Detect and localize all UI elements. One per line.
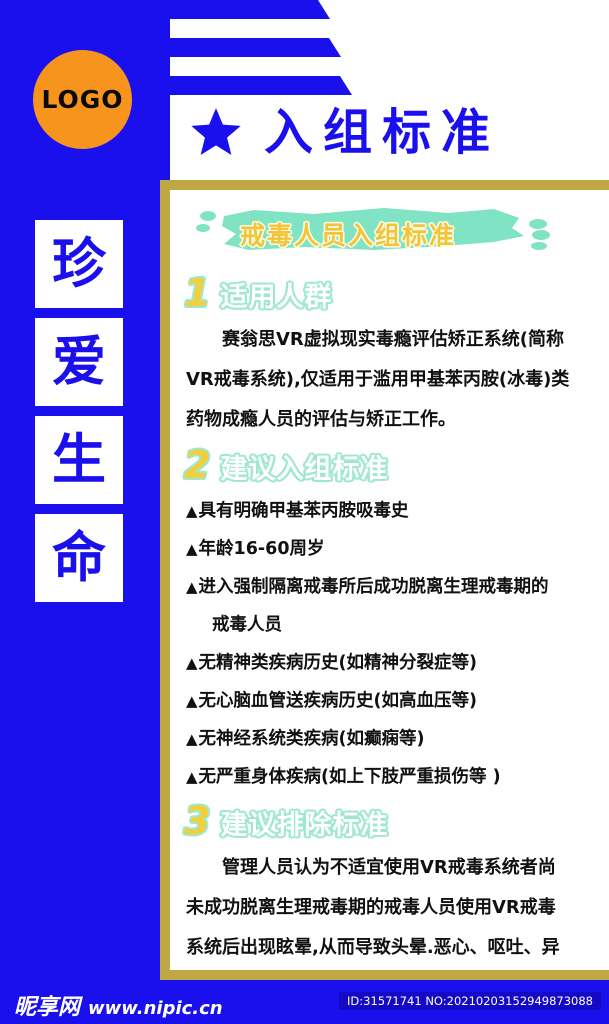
triangle-bullet-icon: ▲: [186, 540, 198, 558]
gold-frame-bottom: [160, 970, 609, 980]
footer-bar: 昵享网 www.nipic.cn ID:31571741 NO:20210203…: [0, 980, 609, 1024]
section-number: 2: [184, 446, 210, 484]
paragraph-line: 管理人员认为不适宜使用VR戒毒系统者尚: [186, 848, 609, 888]
section-number: 3: [184, 802, 210, 840]
watermark-url: www.nipic.cn: [88, 998, 223, 1019]
poster-canvas: LOGO 珍 爱 生 命 入组标准: [0, 0, 609, 1024]
banner-title: 戒毒人员入组标准: [240, 216, 456, 252]
paragraph-line: 未成功脱离生理戒毒期的戒毒人员使用VR戒毒: [186, 888, 609, 928]
section-title: 建议排除标准: [220, 812, 388, 839]
triangle-bullet-icon: ▲: [186, 768, 198, 786]
triangle-bullet-icon: ▲: [186, 502, 198, 520]
page-title: 入组标准: [190, 106, 500, 158]
slogan-char: 命: [52, 531, 106, 585]
paragraph-line: VR戒毒系统),仅适用于滥用甲基苯丙胺(冰毒)类: [186, 360, 609, 400]
section-title: 建议入组标准: [220, 456, 388, 483]
slogan-box: 珍: [35, 220, 123, 308]
section-number: 1: [184, 274, 210, 312]
bullet-item: ▲无严重身体疾病(如上下肢严重损伤等 ): [186, 758, 609, 796]
triangle-bullet-icon: ▲: [186, 730, 198, 748]
paragraph-line: 赛翁思VR虚拟现实毒瘾评估矫正系统(简称: [186, 320, 609, 360]
bullet-text: 无神经系统类疾病(如癫痫等): [199, 729, 425, 749]
slogan-char: 珍: [52, 237, 106, 291]
section-heading-1: 1 适用人群: [184, 274, 609, 312]
slogan-column: 珍 爱 生 命: [35, 220, 123, 612]
section-banner: 戒毒人员入组标准: [180, 202, 609, 268]
bullet-text: 无心脑血管送疾病历史(如高血压等): [199, 691, 478, 711]
bullet-item-continuation: 戒毒人员: [186, 606, 609, 644]
watermark-brand-zh: 昵享网: [14, 989, 80, 1021]
bullet-text: 无精神类疾病历史(如精神分裂症等): [199, 653, 478, 673]
bullet-text: 年龄16-60周岁: [199, 539, 325, 559]
bullet-list: ▲具有明确甲基苯丙胺吸毒史 ▲年龄16-60周岁 ▲进入强制隔离戒毒所后成功脱离…: [186, 492, 609, 796]
triangle-bullet-icon: ▲: [186, 654, 198, 672]
bullet-item: ▲无心脑血管送疾病历史(如高血压等): [186, 682, 609, 720]
slogan-box: 爱: [35, 318, 123, 406]
bullet-text: 无严重身体疾病(如上下肢严重损伤等 ): [199, 767, 501, 787]
triangle-bullet-icon: ▲: [186, 692, 198, 710]
section-title: 适用人群: [220, 284, 332, 311]
watermark-id: ID:31571741 NO:20210203152949873088: [339, 992, 601, 1010]
watermark-brand: 昵享网 www.nipic.cn: [14, 989, 223, 1021]
paragraph-line: 系统后出现眩晕,从而导致头晕.恶心、呕吐、异: [186, 928, 609, 968]
slogan-box: 生: [35, 416, 123, 504]
section-heading-3: 3 建议排除标准: [184, 802, 609, 840]
triangle-bullet-icon: ▲: [186, 578, 198, 596]
logo-text: LOGO: [41, 85, 123, 114]
bullet-text: 进入强制隔离戒毒所后成功脱离生理戒毒期的: [199, 577, 549, 597]
paragraph-line: 药物成瘾人员的评估与矫正工作。: [186, 400, 609, 440]
bullet-text: 戒毒人员: [212, 615, 282, 635]
logo-badge: LOGO: [33, 50, 132, 149]
page-title-text: 入组标准: [264, 108, 500, 157]
bullet-item: ▲进入强制隔离戒毒所后成功脱离生理戒毒期的: [186, 568, 609, 606]
content-body: 戒毒人员入组标准 1 适用人群 赛翁思VR虚拟现实毒瘾评估矫正系统(简称 VR戒…: [180, 196, 609, 972]
star-icon: [190, 106, 242, 158]
bullet-item: ▲无神经系统类疾病(如癫痫等): [186, 720, 609, 758]
bullet-item: ▲年龄16-60周岁: [186, 530, 609, 568]
bullet-item: ▲具有明确甲基苯丙胺吸毒史: [186, 492, 609, 530]
slogan-char: 爱: [52, 335, 106, 389]
section-heading-2: 2 建议入组标准: [184, 446, 609, 484]
bullet-item: ▲无精神类疾病历史(如精神分裂症等): [186, 644, 609, 682]
bullet-text: 具有明确甲基苯丙胺吸毒史: [199, 501, 409, 521]
slogan-box: 命: [35, 514, 123, 602]
slogan-char: 生: [52, 433, 106, 487]
